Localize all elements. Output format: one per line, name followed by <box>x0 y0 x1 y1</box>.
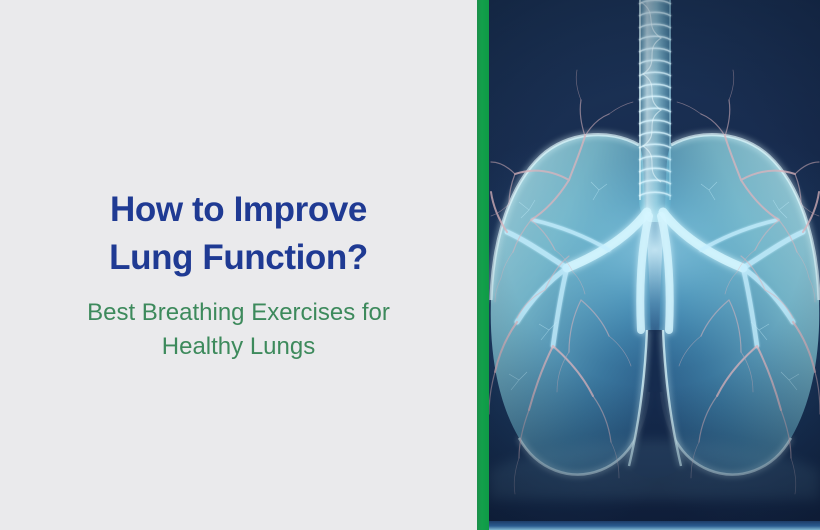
subtitle-line-1: Best Breathing Exercises for <box>29 296 449 330</box>
text-stack: How to Improve Lung Function? Best Breat… <box>29 186 449 364</box>
bottom-accent-band <box>489 521 820 530</box>
green-vertical-divider <box>477 0 489 530</box>
lung-function-banner: How to Improve Lung Function? Best Breat… <box>0 0 820 530</box>
left-lung <box>491 135 651 475</box>
lung-diagram-svg <box>489 0 820 530</box>
subtitle-line-2: Healthy Lungs <box>29 330 449 364</box>
title-line-1: How to Improve <box>29 186 449 234</box>
text-panel: How to Improve Lung Function? Best Breat… <box>0 0 477 530</box>
page-subtitle: Best Breathing Exercises for Healthy Lun… <box>29 296 449 364</box>
right-lung <box>659 135 819 475</box>
page-title: How to Improve Lung Function? <box>29 186 449 282</box>
trachea <box>639 0 671 222</box>
lung-anatomy-illustration <box>489 0 820 530</box>
title-line-2: Lung Function? <box>29 234 449 282</box>
